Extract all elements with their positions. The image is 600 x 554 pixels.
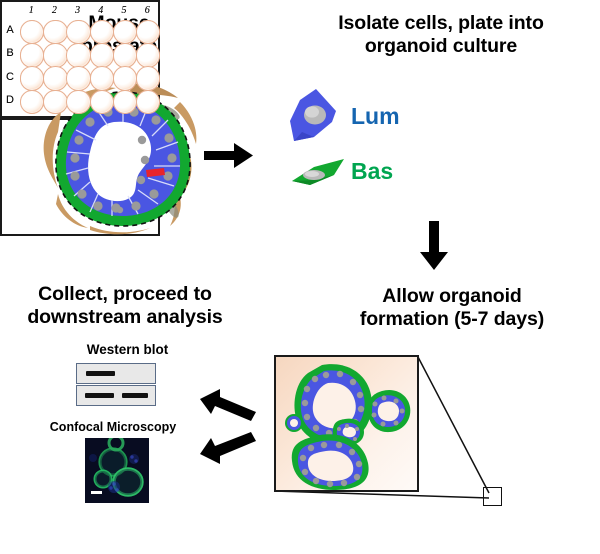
plate-well-B6[interactable] [136, 43, 160, 67]
plate-well-D5[interactable] [113, 90, 137, 114]
arrow-organoids-to-confocal [198, 430, 264, 464]
plate-well-C4[interactable] [90, 66, 114, 90]
plate-well-B3[interactable] [66, 43, 90, 67]
multiwell-plate-bottom[interactable]: 123456ABCD [0, 118, 160, 236]
plate-column-label-2: 2 [47, 5, 61, 16]
plate-column-label-4: 4 [94, 5, 108, 16]
plate-well-D1[interactable] [20, 90, 44, 114]
arrow-organoids-to-western-blot [198, 388, 264, 422]
plate-well-D3[interactable] [66, 90, 90, 114]
plate-column-label-1: 1 [24, 5, 38, 16]
western-blot-panel-bottom [76, 385, 156, 406]
plate-well-D2[interactable] [43, 90, 67, 114]
plate-row-label-B: B [4, 47, 16, 59]
confocal-microscopy-image [85, 438, 149, 503]
plate-column-label-3: 3 [71, 5, 85, 16]
plate-well-C2[interactable] [43, 66, 67, 90]
plate-well-B4[interactable] [90, 43, 114, 67]
confocal-microscopy-label: Confocal Microscopy [18, 420, 208, 434]
step4-title-line1: Collect, proceed to [10, 283, 240, 306]
plate-well-C1[interactable] [20, 66, 44, 90]
blot-band [86, 371, 115, 376]
blot-band [85, 393, 114, 398]
plate-well-C6[interactable] [136, 66, 160, 90]
western-blot-panel-top [76, 363, 156, 384]
plate-row-label-C: C [4, 71, 16, 83]
plate-well-D4[interactable] [90, 90, 114, 114]
plate-well-C3[interactable] [66, 66, 90, 90]
western-blot-label: Western blot [55, 342, 200, 357]
highlighted-well-callout [483, 487, 502, 506]
plate-well-A3[interactable] [66, 20, 90, 44]
plate-well-A4[interactable] [90, 20, 114, 44]
plate-well-A5[interactable] [113, 20, 137, 44]
plate-column-label-6: 6 [140, 5, 154, 16]
plate-well-A1[interactable] [20, 20, 44, 44]
plate-well-A6[interactable] [136, 20, 160, 44]
plate-well-B2[interactable] [43, 43, 67, 67]
plate-row-label-A: A [4, 24, 16, 36]
figure-canvas: Mouse prostate [0, 0, 600, 554]
plate-well-B5[interactable] [113, 43, 137, 67]
plate-well-B1[interactable] [20, 43, 44, 67]
step4-title: Collect, proceed to downstream analysis [10, 283, 240, 329]
plate-well-D6[interactable] [136, 90, 160, 114]
plate-row-label-D: D [4, 94, 16, 106]
plate-well-A2[interactable] [43, 20, 67, 44]
plate-column-label-5: 5 [117, 5, 131, 16]
step4-title-line2: downstream analysis [10, 306, 240, 329]
scale-bar [91, 491, 102, 494]
blot-band [122, 393, 148, 398]
plate-well-C5[interactable] [113, 66, 137, 90]
